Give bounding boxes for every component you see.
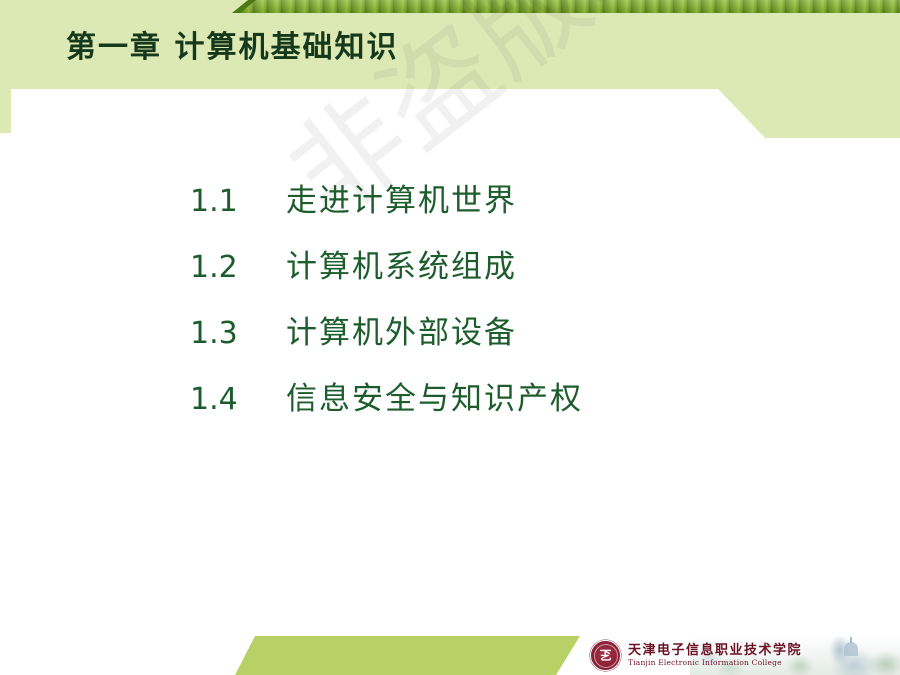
agenda-list: 1.1 走进计算机世界 1.2 计算机系统组成 1.3 计算机外部设备 1.4 … — [190, 175, 830, 439]
list-item[interactable]: 1.2 计算机系统组成 — [190, 241, 830, 307]
agenda-item-number: 1.3 — [190, 316, 286, 351]
agenda-item-number: 1.2 — [190, 250, 286, 285]
page-title: 第一章 计算机基础知识 — [66, 28, 398, 68]
agenda-item-label: 计算机外部设备 — [286, 307, 517, 352]
slide-canvas: 第一章 计算机基础知识 非盗版水印 1.1 走进计算机世界 1.2 计算机系统组… — [0, 0, 900, 675]
list-item[interactable]: 1.4 信息安全与知识产权 — [190, 373, 830, 439]
agenda-item-label: 信息安全与知识产权 — [286, 373, 583, 418]
organization-name-cn: 天津电子信息职业技术学院 — [628, 644, 802, 657]
organization-name-group: 天津电子信息职业技术学院 Tianjin Electronic Informat… — [628, 644, 802, 667]
agenda-item-number: 1.4 — [190, 382, 286, 417]
agenda-item-label: 计算机系统组成 — [286, 241, 517, 286]
campus-dome-shape — [844, 642, 858, 656]
list-item[interactable]: 1.3 计算机外部设备 — [190, 307, 830, 373]
emblem-glyph: 乤 — [599, 649, 612, 662]
agenda-item-label: 走进计算机世界 — [286, 175, 517, 220]
list-item[interactable]: 1.1 走进计算机世界 — [190, 175, 830, 241]
college-emblem-icon: 乤 — [590, 640, 621, 671]
agenda-item-number: 1.1 — [190, 184, 286, 219]
stripe-bar — [240, 0, 900, 13]
organization-logo: 乤 天津电子信息职业技术学院 Tianjin Electronic Inform… — [590, 640, 802, 671]
organization-name-en: Tianjin Electronic Information College — [628, 659, 802, 667]
